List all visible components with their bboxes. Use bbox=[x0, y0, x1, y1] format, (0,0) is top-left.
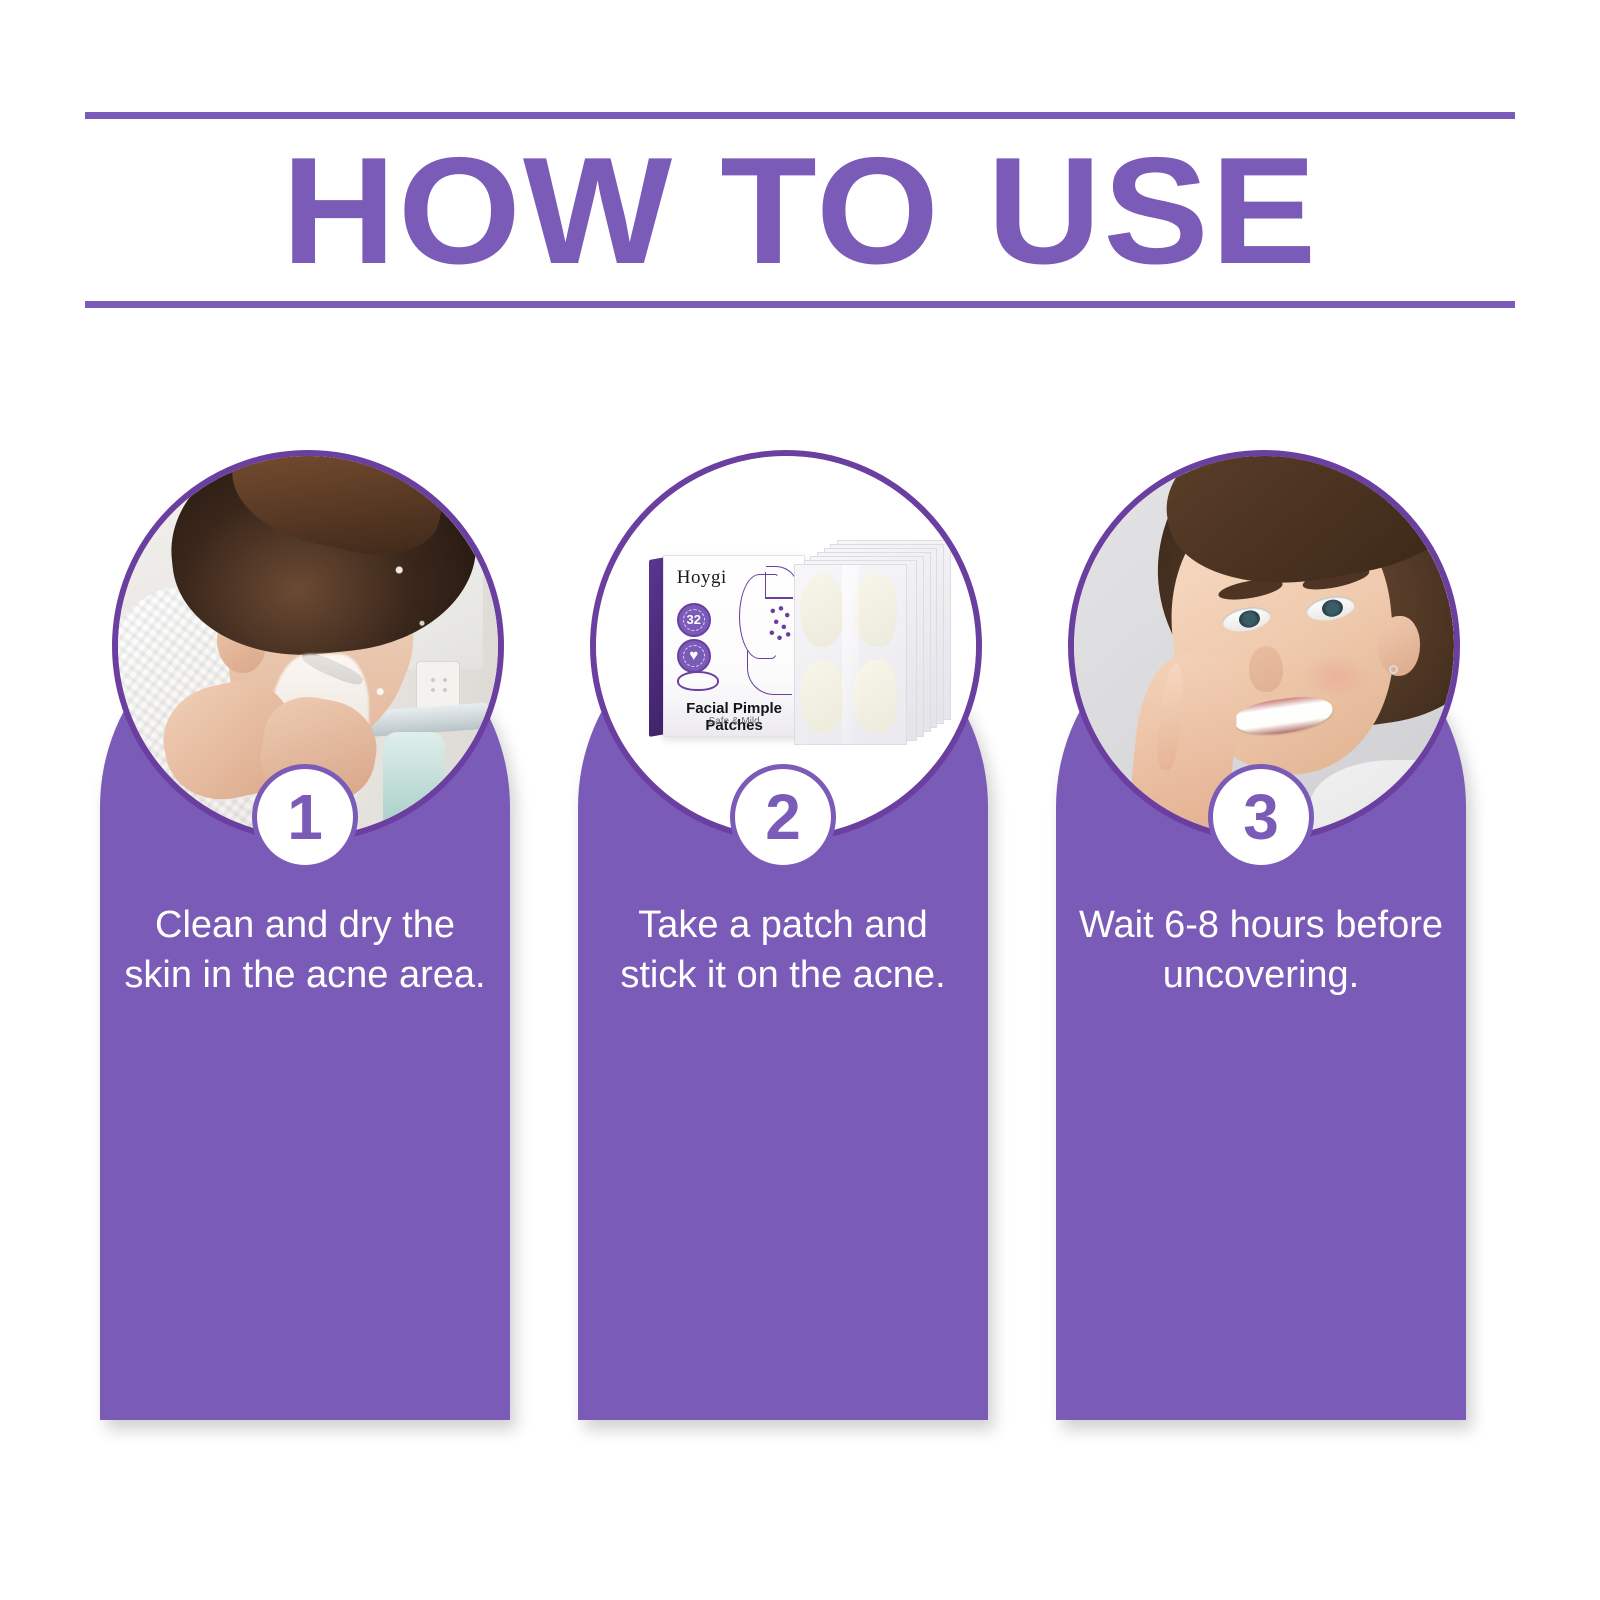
product-brand: Hoygi bbox=[677, 567, 727, 589]
face-line-art-icon bbox=[729, 563, 802, 704]
step-card-1: 1 Clean and dry the skin in the acne are… bbox=[100, 432, 510, 1422]
header: HOW TO USE bbox=[85, 112, 1515, 308]
patch-shape bbox=[800, 574, 845, 647]
patch-sheet-stack bbox=[794, 540, 961, 745]
product-box: Hoygi 32 ♥ Facial Pimple Patches bbox=[649, 555, 805, 737]
count-seal-badge: 32 bbox=[677, 603, 711, 637]
product-subtitle: Safe & Mild bbox=[664, 716, 804, 727]
heart-seal-badge: ♥ bbox=[677, 639, 711, 673]
patch-shape bbox=[853, 574, 898, 647]
steps-row: 1 Clean and dry the skin in the acne are… bbox=[0, 432, 1600, 1442]
patch-sheet-front bbox=[794, 564, 908, 745]
title-rule-bottom bbox=[85, 301, 1515, 308]
step-number-badge-3: 3 bbox=[1208, 764, 1314, 870]
patch-shape bbox=[853, 660, 898, 733]
page-title: HOW TO USE bbox=[56, 119, 1543, 301]
step-caption-3: Wait 6-8 hours before uncovering. bbox=[1074, 900, 1448, 1000]
title-rule-top bbox=[85, 112, 1515, 119]
product-box-front: Hoygi 32 ♥ Facial Pimple Patches bbox=[663, 555, 805, 737]
step-number-badge-1: 1 bbox=[252, 764, 358, 870]
acne-spots-icon bbox=[768, 605, 793, 647]
patch-shape bbox=[800, 660, 845, 733]
step-card-2: Hoygi 32 ♥ Facial Pimple Patches bbox=[578, 432, 988, 1422]
patch-shape-outline-icon bbox=[677, 671, 719, 691]
step-number-badge-2: 2 bbox=[730, 764, 836, 870]
step-caption-2: Take a patch and stick it on the acne. bbox=[596, 900, 970, 1000]
step-caption-1: Clean and dry the skin in the acne area. bbox=[118, 900, 492, 1000]
step-card-3: 3 Wait 6-8 hours before uncovering. bbox=[1056, 432, 1466, 1422]
